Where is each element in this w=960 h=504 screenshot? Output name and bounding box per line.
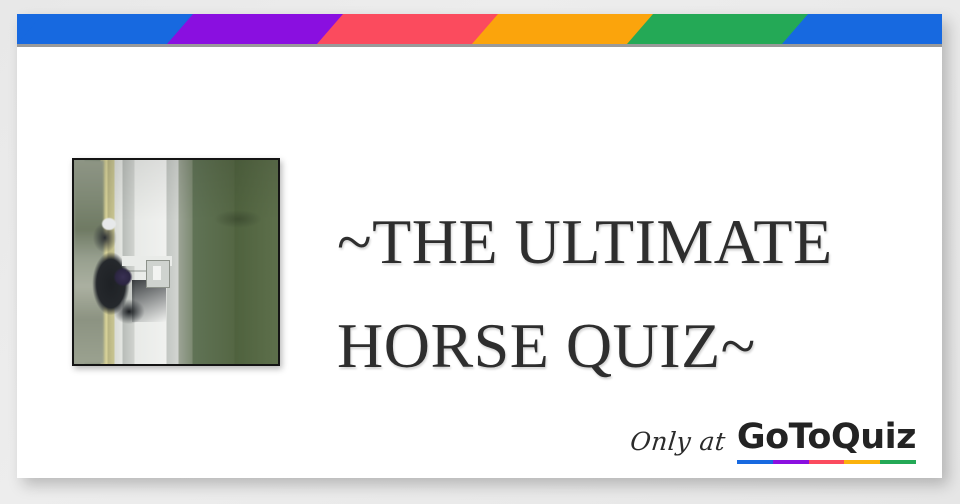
brand-only-at-label: Only at: [628, 427, 727, 464]
page-title: ~THE ULTIMATE HORSE QUIZ~: [337, 190, 922, 398]
quiz-card: ~THE ULTIMATE HORSE QUIZ~ Only at GoToQu…: [17, 14, 942, 478]
brand-footer[interactable]: Only at GoToQuiz: [630, 420, 916, 464]
thumbnail-grass-shadow: [214, 208, 262, 230]
thumbnail-scene: [74, 160, 278, 364]
page-title-line-2: HORSE QUIZ~: [337, 294, 922, 398]
quiz-thumbnail[interactable]: [72, 158, 280, 366]
underline-segment-4: [844, 460, 880, 464]
page-title-line-1: ~THE ULTIMATE: [337, 190, 922, 294]
gotoquiz-underline: [737, 460, 916, 464]
ribbon-segment-blue2: [782, 14, 942, 44]
underline-segment-1: [737, 460, 773, 464]
gotoquiz-logo[interactable]: GoToQuiz: [737, 420, 916, 464]
underline-segment-5: [880, 460, 916, 464]
underline-segment-3: [809, 460, 845, 464]
underline-segment-2: [773, 460, 809, 464]
gotoquiz-wordmark: GoToQuiz: [737, 420, 916, 455]
card-body: ~THE ULTIMATE HORSE QUIZ~ Only at GoToQu…: [17, 47, 942, 478]
top-color-ribbon: [17, 14, 942, 44]
thumbnail-sign: [146, 260, 170, 288]
thumbnail-helmet: [102, 218, 116, 230]
